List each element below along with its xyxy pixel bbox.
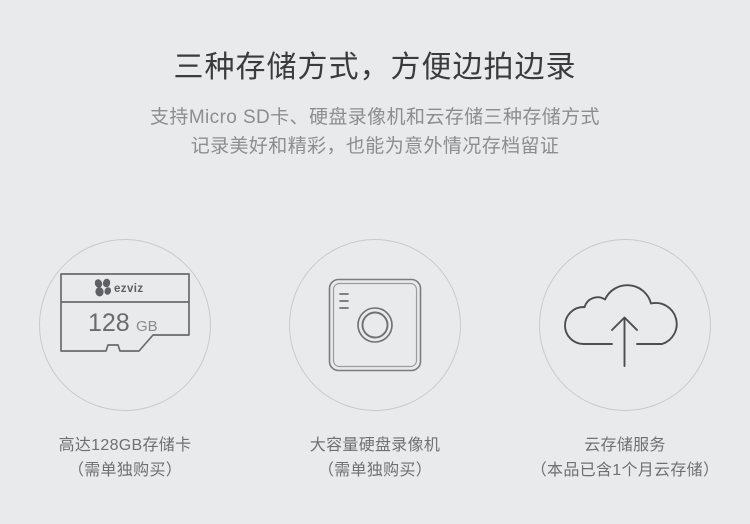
feature-item-sd-card: ezviz 128 GB 高达128GB存储卡 （需单独购买）: [0, 239, 250, 483]
nvr-circle: [289, 239, 461, 411]
feature-columns: ezviz 128 GB 高达128GB存储卡 （需单独购买）: [0, 239, 750, 483]
subtitle-line-2: 记录美好和精彩，也能为意外情况存档留证: [0, 132, 750, 161]
nvr-recorder-icon: [327, 277, 423, 373]
storage-options-page: 三种存储方式，方便边拍边录 支持Micro SD卡、硬盘录像机和云存储三种存储方…: [0, 0, 750, 524]
sd-capacity-unit: GB: [136, 318, 158, 335]
sd-capacity-value: 128: [88, 309, 130, 337]
ezviz-wordmark: ezviz: [114, 283, 144, 295]
subtitle-line-1: 支持Micro SD卡、硬盘录像机和云存储三种存储方式: [0, 103, 750, 132]
nvr-caption-line-1: 大容量硬盘录像机: [310, 433, 440, 458]
nvr-led-indicators: [340, 294, 348, 308]
cloud-caption-line-1: 云存储服务: [531, 433, 720, 458]
feature-item-cloud: 云存储服务 （本品已含1个月云存储）: [500, 239, 750, 483]
sd-card-caption-line-1: 高达128GB存储卡: [59, 433, 192, 458]
cloud-upload-icon: [564, 277, 686, 373]
nvr-power-ring: [358, 308, 392, 342]
cloud-circle: [539, 239, 711, 411]
ezviz-logo-mark: [94, 278, 113, 297]
sd-card-circle: ezviz 128 GB: [39, 239, 211, 411]
page-title: 三种存储方式，方便边拍边录: [0, 48, 750, 88]
cloud-caption: 云存储服务 （本品已含1个月云存储）: [531, 433, 720, 483]
sd-card-caption: 高达128GB存储卡 （需单独购买）: [59, 433, 192, 483]
page-header: 三种存储方式，方便边拍边录 支持Micro SD卡、硬盘录像机和云存储三种存储方…: [0, 0, 750, 161]
page-subtitle: 支持Micro SD卡、硬盘录像机和云存储三种存储方式 记录美好和精彩，也能为意…: [0, 103, 750, 161]
nvr-caption: 大容量硬盘录像机 （需单独购买）: [310, 433, 440, 483]
upload-arrow: [612, 318, 637, 367]
sd-card-icon: ezviz 128 GB: [58, 271, 192, 379]
nvr-caption-line-2: （需单独购买）: [310, 458, 440, 483]
sd-card-caption-line-2: （需单独购买）: [59, 458, 192, 483]
cloud-caption-line-2: （本品已含1个月云存储）: [531, 458, 720, 483]
feature-item-nvr: 大容量硬盘录像机 （需单独购买）: [250, 239, 500, 483]
